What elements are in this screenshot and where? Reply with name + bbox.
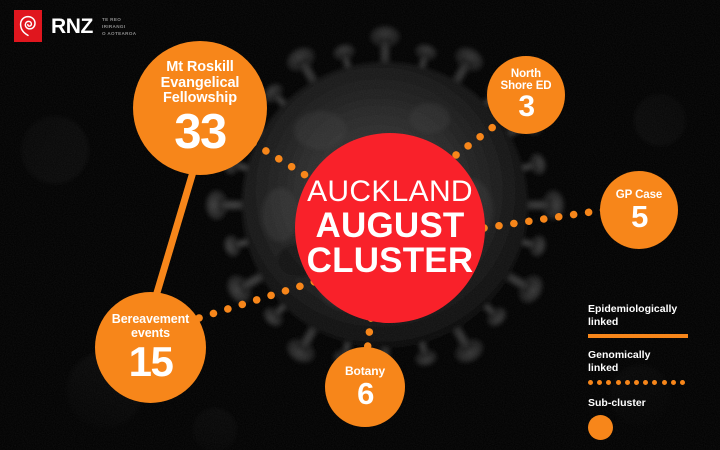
sub-cluster-value: 3 bbox=[518, 93, 533, 122]
filled-circle-swatch-icon bbox=[588, 415, 613, 440]
dotted-line-swatch-icon bbox=[588, 380, 689, 386]
main-cluster-line3: CLUSTER bbox=[307, 243, 474, 279]
legend-item-sub-cluster: Sub-cluster bbox=[588, 397, 708, 440]
sub-cluster-value: 15 bbox=[129, 342, 173, 382]
sub-cluster-mt-roskill[interactable]: Mt Roskill Evangelical Fellowship 33 bbox=[133, 41, 267, 175]
main-cluster-line1: AUCKLAND bbox=[307, 177, 473, 208]
infographic-canvas: RNZ TE REO IRIRANGI O AOTEAROA AUCKLAND … bbox=[0, 0, 720, 450]
sub-cluster-label: Bereavement events bbox=[112, 313, 189, 340]
sub-cluster-bereavement-events[interactable]: Bereavement events 15 bbox=[95, 292, 206, 403]
main-cluster-line2: AUGUST bbox=[316, 208, 465, 244]
sub-cluster-value: 33 bbox=[174, 109, 226, 156]
sub-cluster-north-shore-ed[interactable]: North Shore ED 3 bbox=[487, 56, 565, 134]
legend-label: Sub-cluster bbox=[588, 397, 708, 410]
solid-line-swatch-icon bbox=[588, 334, 688, 338]
legend-item-epidemiologically-linked: Epidemiologically linked bbox=[588, 303, 708, 338]
logo-tagline: TE REO IRIRANGI O AOTEAROA bbox=[102, 15, 136, 37]
sub-cluster-value: 5 bbox=[631, 202, 647, 231]
koru-spiral-icon bbox=[14, 10, 42, 42]
sub-cluster-botany[interactable]: Botany 6 bbox=[325, 347, 405, 427]
legend: Epidemiologically linked Genomically lin… bbox=[588, 303, 708, 450]
legend-label: Genomically linked bbox=[588, 349, 708, 375]
sub-cluster-label: North Shore ED bbox=[501, 68, 552, 92]
logo-wordmark: RNZ bbox=[51, 16, 93, 37]
legend-label: Epidemiologically linked bbox=[588, 303, 708, 329]
rnz-logo[interactable]: RNZ TE REO IRIRANGI O AOTEAROA bbox=[14, 10, 136, 42]
legend-item-genomically-linked: Genomically linked bbox=[588, 349, 708, 386]
sub-cluster-label: Mt Roskill Evangelical Fellowship bbox=[161, 60, 240, 106]
sub-cluster-value: 6 bbox=[357, 379, 373, 408]
sub-cluster-gp-case[interactable]: GP Case 5 bbox=[600, 171, 678, 249]
main-cluster-node[interactable]: AUCKLAND AUGUST CLUSTER bbox=[295, 133, 485, 323]
